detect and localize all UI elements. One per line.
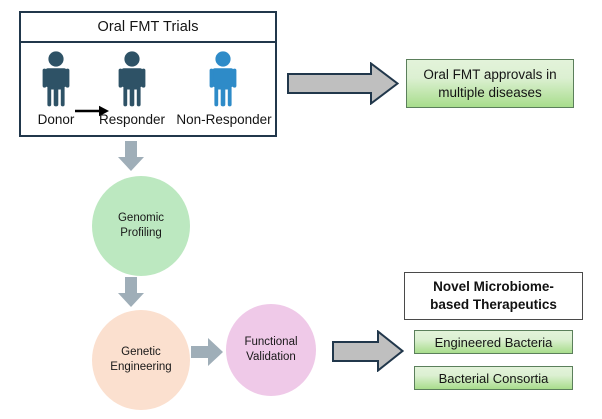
person-icon-donor <box>39 51 73 107</box>
functional-validation-node: Functional Validation <box>226 304 316 396</box>
bacterial-consortia-box: Bacterial Consortia <box>414 366 573 390</box>
arrow-down-icon-trials-to-genomic <box>118 141 144 171</box>
novel-therapeutics-line1: Novel Microbiome- <box>433 279 554 294</box>
engineered-bacteria-label: Engineered Bacteria <box>435 335 553 350</box>
oral-fmt-approvals-line1: Oral FMT approvals in <box>423 67 556 82</box>
genetic-engineering-node: Genetic Engineering <box>92 310 190 410</box>
genomic-profiling-line2: Profiling <box>120 226 162 241</box>
genetic-engineering-line1: Genetic <box>121 345 161 360</box>
bacterial-consortia-label: Bacterial Consortia <box>439 371 549 386</box>
person-icon-non-responder <box>206 51 240 107</box>
novel-therapeutics-line2: based Therapeutics <box>430 297 557 312</box>
genomic-profiling-node: Genomic Profiling <box>92 176 190 276</box>
engineered-bacteria-box: Engineered Bacteria <box>414 330 573 354</box>
arrow-down-icon-genomic-to-genetic <box>118 277 144 307</box>
oral-fmt-trials-title: Oral FMT Trials <box>21 13 275 43</box>
oral-fmt-trials-body: Donor Responder <box>21 43 275 137</box>
genetic-engineering-line2: Engineering <box>110 360 171 375</box>
block-arrow-right-icon-trials-to-approvals <box>287 62 399 105</box>
block-arrow-right-icon-validation-to-therapeutics <box>332 330 404 372</box>
oral-fmt-trials-panel: Oral FMT Trials Donor <box>19 11 277 137</box>
diagram-canvas: Oral FMT Trials Donor <box>0 0 602 419</box>
person-label-responder: Responder <box>89 112 175 127</box>
oral-fmt-approvals-box: Oral FMT approvals in multiple diseases <box>406 59 574 108</box>
oral-fmt-approvals-line2: multiple diseases <box>438 85 542 100</box>
functional-validation-line1: Functional <box>244 335 297 350</box>
functional-validation-line2: Validation <box>246 350 296 365</box>
arrow-right-icon-genetic-to-functional <box>191 338 223 366</box>
novel-therapeutics-heading-box: Novel Microbiome- based Therapeutics <box>404 272 583 320</box>
person-label-non-responder: Non-Responder <box>172 112 276 127</box>
genomic-profiling-line1: Genomic <box>118 211 164 226</box>
person-icon-responder <box>115 51 149 107</box>
